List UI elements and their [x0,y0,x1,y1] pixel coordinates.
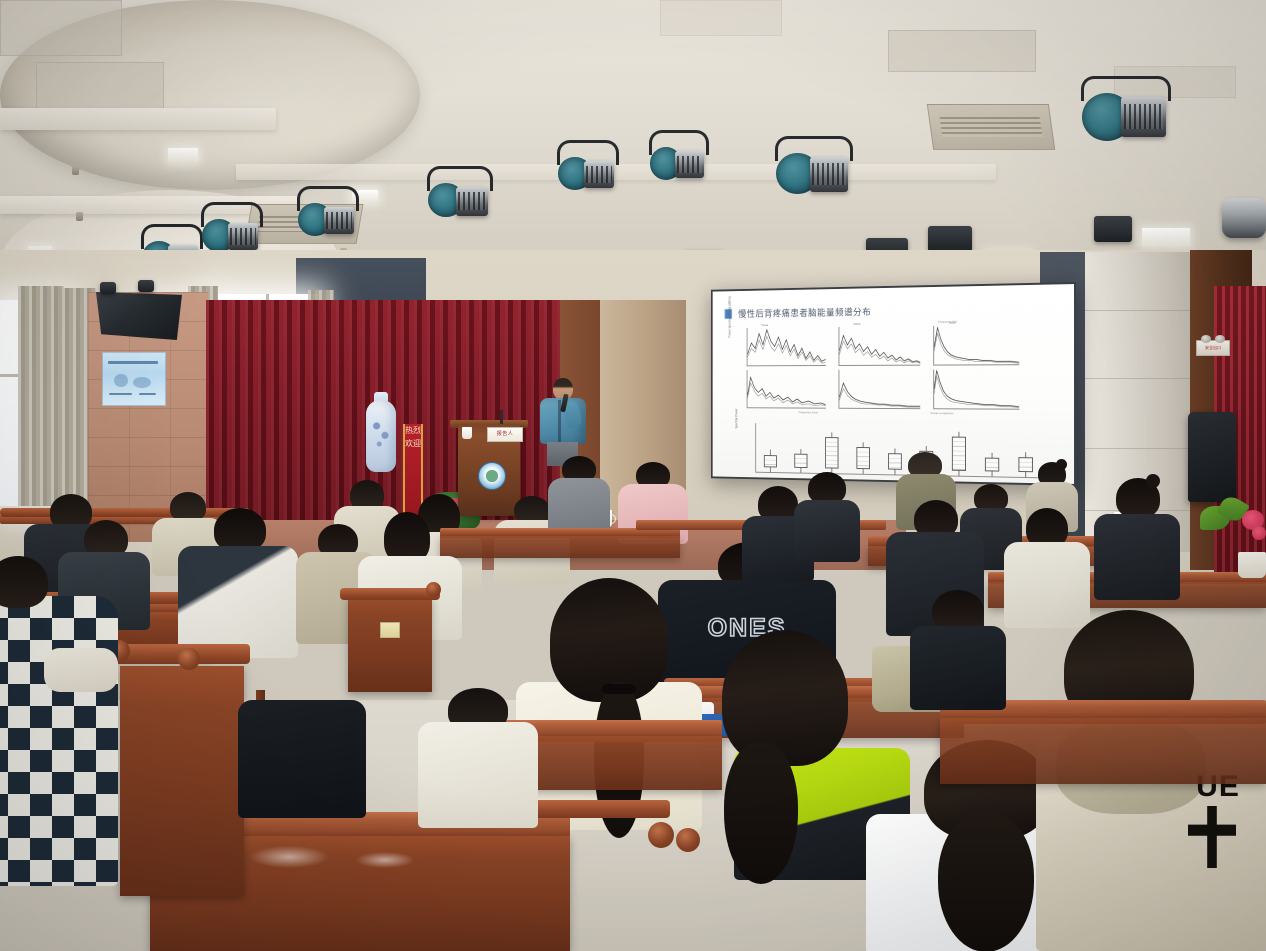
person-torso [0,596,118,886]
wall-speaker-icon [96,292,182,340]
audience-person [548,456,610,538]
wall-poster [102,352,166,406]
desk-rail [340,588,440,600]
chart-note-bottom-right: Group comparison [930,411,953,415]
person-torso [794,500,860,562]
person-torso [1094,514,1180,600]
audience-person [794,472,860,562]
spectra-panel: Beta [934,325,1020,366]
ceiling-black-fixture [1094,216,1132,242]
spectra-panel [838,369,920,409]
person-torso [238,700,366,818]
person-hand [44,648,118,692]
podium-mug [462,427,472,439]
spectra-panel: Theta [747,327,826,366]
person-torso [178,546,298,658]
porcelain-vase [366,400,396,472]
spectra-panel [747,370,826,409]
banner-char: 热烈欢迎 [405,424,421,450]
projection-screen: 慢性后背疼痛患者脑能量频谱分布 Power Spectral Density (… [711,282,1076,486]
stage-spotlight-icon [200,214,258,252]
desk-knob [648,822,674,848]
person-hair [722,630,848,766]
audience-person-front-left [516,578,702,830]
audience-person-checkered [0,556,118,886]
stage-spotlight-icon [296,198,354,236]
black-chair [1188,412,1236,502]
slide-body: Power Spectral Density (dB/Hz) Frequency… [725,320,1063,476]
desk-side-panel [348,596,432,692]
audience-person [1094,478,1180,600]
curtain-left-1 [18,286,64,520]
person-ponytail [938,812,1034,951]
podium-microphone-icon [500,410,503,424]
desk-glare [250,846,328,868]
boxplot [986,453,998,477]
emergency-exit-light-icon: 安全出口 [1196,340,1230,356]
desk-glare [356,852,414,868]
stage-spotlight-icon [556,152,614,190]
chart-y-axis-label-top: Power Spectral Density (dB/Hz) [728,296,731,338]
presenter-person [540,378,586,466]
ceiling-black-fixture [928,226,972,252]
desk-knob [676,828,700,852]
person-torso [418,722,538,828]
emergency-light-label: 安全出口 [1197,341,1229,355]
desk-knob [178,648,200,670]
slide-header: 慢性后背疼痛患者脑能量频谱分布 [725,300,1065,321]
panel-caption: Alpha [854,322,861,326]
desk-front-right [940,718,1266,784]
podium-name-card: 报告人 [487,427,523,442]
plant-pot [1238,552,1266,578]
desk-side-panel [120,666,244,896]
chart-note-mid: Frequency band [799,410,818,414]
person-hair-bun [1146,474,1160,488]
slide-surface: 慢性后背疼痛患者脑能量频谱分布 Power Spectral Density (… [713,284,1074,484]
audience-person-seated [418,688,538,828]
hair-tie [602,684,636,694]
plant-flower [1252,526,1266,540]
person-hair [0,556,48,608]
boxplot [826,432,838,473]
university-crest-icon [478,462,506,490]
audience-person [178,508,298,658]
person-torso [910,626,1006,710]
panel-caption: Theta [761,323,768,327]
audience-person [910,590,1006,710]
chart-y-axis-label-bottom: Spectral Power [735,408,738,428]
desk-number-label [380,622,400,638]
person-hair-strand [724,742,798,884]
spectra-panel [934,369,1020,410]
stage-spotlight-icon [426,178,488,218]
desk-knob [426,582,441,597]
lecture-hall-photo: 热烈欢迎 报告人 安全出口 慢性后背疼痛患者脑能量频谱分布 [0,0,1266,951]
name-card-text: 报告人 [488,428,522,441]
spectra-panel: Alpha [838,326,920,366]
desk-row [440,536,680,558]
spectra-panel-grid: Theta Alpha Beta [747,325,1020,410]
stage-spotlight-icon [648,142,704,180]
stage-spotlight-icon [774,148,848,196]
boxplot [857,442,869,474]
fresnel-light-icon [1222,198,1266,238]
panel-caption: Beta [949,321,955,325]
person-hair-bun [1056,459,1067,470]
slide-title: 慢性后背疼痛患者脑能量频谱分布 [738,305,871,320]
stage-spotlight-icon [1080,88,1166,144]
boxplot [765,449,776,472]
audience-person-seated [238,700,366,818]
boxplot [795,449,806,473]
